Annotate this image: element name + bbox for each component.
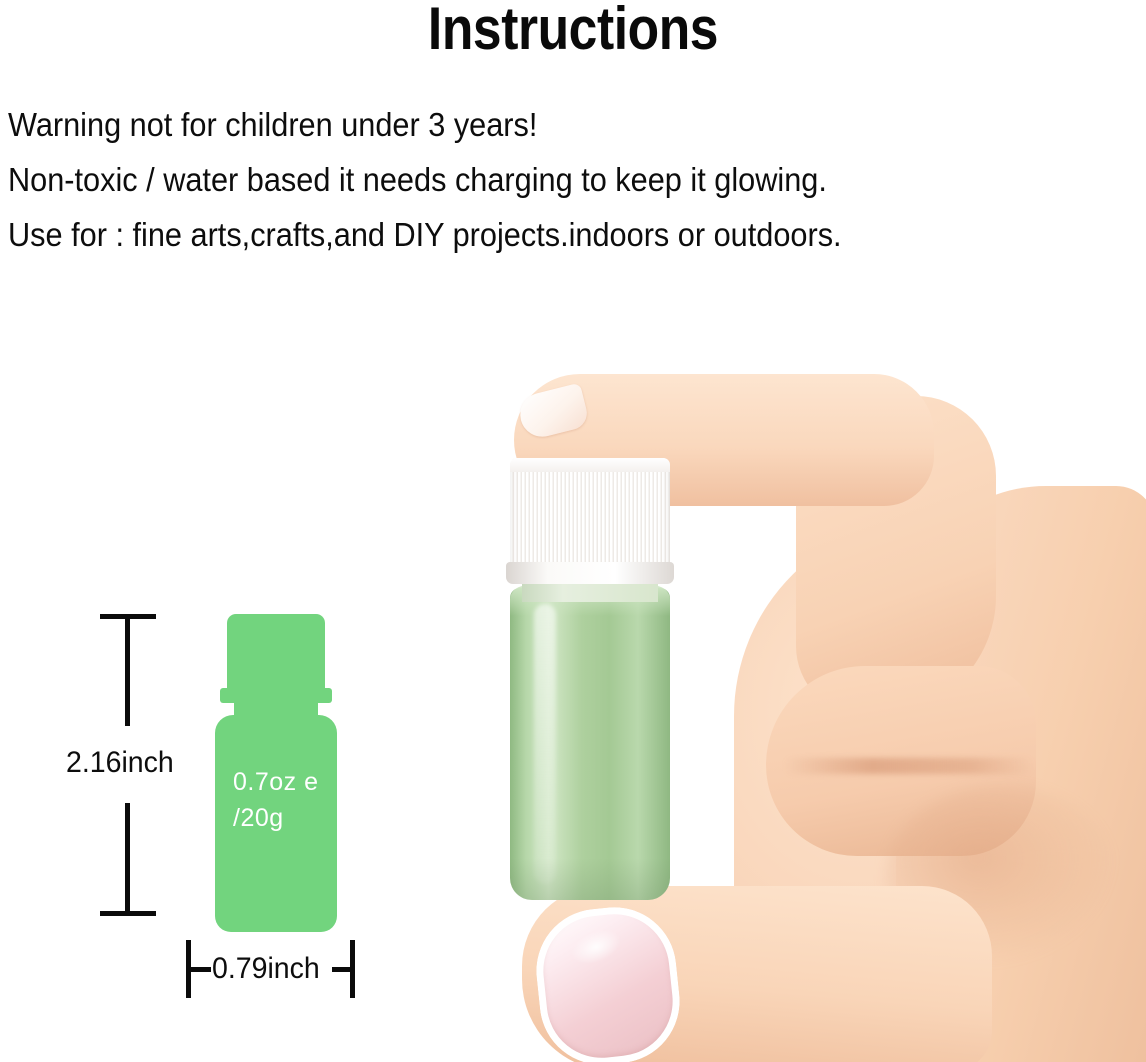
bottle-highlight: [534, 604, 556, 884]
instruction-list: Warning not for children under 3 years! …: [8, 108, 1108, 273]
bottle-dimension-diagram: 2.16inch 0.7oz e /20g 0.79inch: [60, 600, 400, 1020]
product-in-hand-photo: [466, 366, 1146, 1062]
page-title: Instructions: [80, 0, 1066, 62]
instruction-line-usage: Use for : fine arts,crafts,and DIY proje…: [8, 218, 1031, 251]
width-dimension-label: 0.79inch: [212, 952, 320, 986]
silhouette-volume-label: 0.7oz e /20g: [233, 764, 319, 837]
width-dimension-stub-left: [189, 967, 211, 972]
height-dimension-segment-lower: [125, 803, 130, 913]
width-dimension-line: 0.79inch: [182, 940, 412, 1010]
instruction-line-warning: Warning not for children under 3 years!: [8, 108, 1031, 141]
bottle-cap-top: [510, 458, 670, 472]
height-dimension-segment-upper: [125, 616, 130, 726]
bottle-cap-skirt: [506, 562, 674, 584]
height-dimension-line: 2.16inch: [60, 600, 190, 930]
hand-finger-crease: [784, 758, 1034, 774]
height-dimension-label: 2.16inch: [66, 746, 174, 780]
product-bottle: [504, 458, 684, 908]
height-dimension-cap-bottom: [100, 911, 156, 916]
instruction-line-nontoxic: Non-toxic / water based it needs chargin…: [8, 163, 1031, 196]
bottle-silhouette: 0.7oz e /20g: [210, 614, 342, 932]
silhouette-cap: [227, 614, 325, 696]
bottle-bottom-shading: [510, 858, 670, 900]
bottle-cap: [510, 458, 670, 578]
width-dimension-cap-right: [350, 940, 355, 998]
